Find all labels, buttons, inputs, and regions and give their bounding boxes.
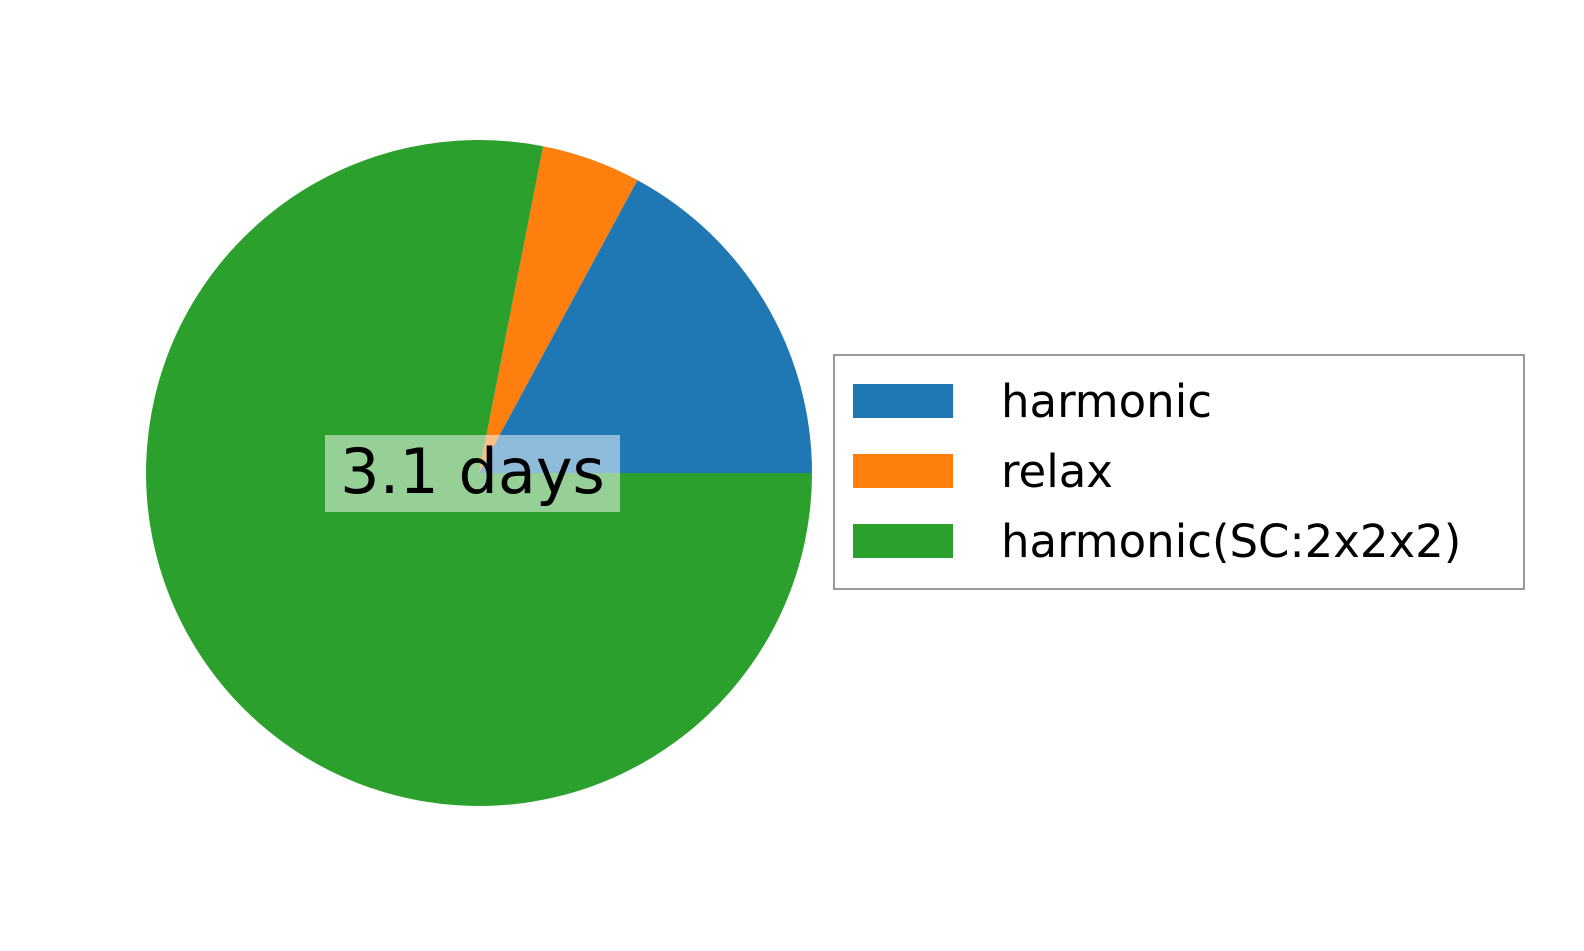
legend-entry-relax[interactable]: relax <box>853 436 1113 506</box>
center-annotation-text: 3.1 days <box>340 441 605 503</box>
legend-label-harmonic-sc: harmonic(SC:2x2x2) <box>1001 519 1461 564</box>
legend-entry-harmonic[interactable]: harmonic <box>853 366 1212 436</box>
center-annotation-box: 3.1 days <box>325 435 620 512</box>
legend-swatch-harmonic <box>853 384 953 418</box>
legend-swatch-relax <box>853 454 953 488</box>
legend: harmonic relax harmonic(SC:2x2x2) <box>833 354 1525 590</box>
legend-entry-harmonic-sc[interactable]: harmonic(SC:2x2x2) <box>853 506 1461 576</box>
legend-label-relax: relax <box>1001 449 1113 494</box>
legend-swatch-harmonic-sc <box>853 524 953 558</box>
legend-label-harmonic: harmonic <box>1001 379 1212 424</box>
figure-canvas: 3.1 days harmonic relax harmonic(SC:2x2x… <box>0 0 1584 951</box>
